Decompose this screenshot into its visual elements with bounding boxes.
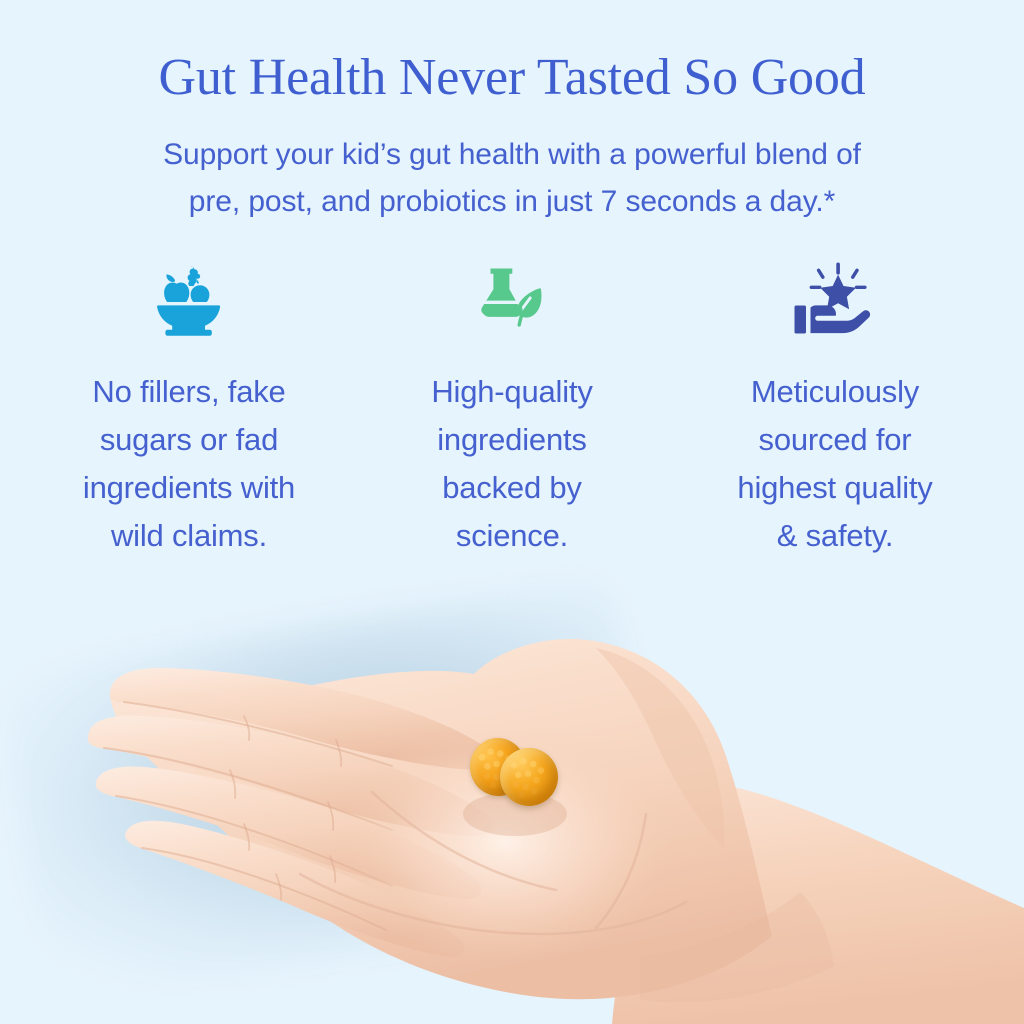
page-title: Gut Health Never Tasted So Good — [0, 48, 1024, 108]
feature-text-no-fillers: No fillers, fake sugars or fad ingredien… — [77, 368, 301, 560]
feature-item-high-quality: High-quality ingredients backed by scien… — [351, 252, 673, 560]
promo-banner: Gut Health Never Tasted So Good Support … — [0, 0, 1024, 1024]
product-photo — [0, 556, 1024, 1024]
feature-line: sugars or fad — [100, 422, 278, 457]
feature-line: highest quality — [737, 470, 932, 505]
subtitle-line-2: pre, post, and probiotics in just 7 seco… — [62, 178, 962, 225]
flask-leaf-icon — [471, 252, 553, 348]
feature-item-meticulously-sourced: Meticulously sourced for highest quality… — [674, 252, 996, 560]
feature-line: wild claims. — [111, 518, 267, 553]
feature-item-no-fillers: No fillers, fake sugars or fad ingredien… — [28, 252, 350, 560]
feature-line: & safety. — [777, 518, 894, 553]
hand-star-icon — [791, 252, 879, 348]
feature-text-meticulously-sourced: Meticulously sourced for highest quality… — [731, 368, 938, 560]
feature-line: science. — [456, 518, 568, 553]
feature-line: ingredients with — [83, 470, 295, 505]
feature-line: sourced for — [759, 422, 912, 457]
feature-list: No fillers, fake sugars or fad ingredien… — [28, 252, 996, 560]
gummy-front — [500, 748, 558, 806]
fruit-bowl-icon — [148, 252, 230, 348]
subtitle-line-1: Support your kid’s gut health with a pow… — [62, 131, 962, 178]
feature-line: ingredients — [437, 422, 586, 457]
page-subtitle: Support your kid’s gut health with a pow… — [62, 131, 962, 225]
feature-line: No fillers, fake — [92, 374, 285, 409]
feature-line: backed by — [442, 470, 582, 505]
feature-line: Meticulously — [751, 374, 919, 409]
feature-line: High-quality — [431, 374, 592, 409]
feature-text-high-quality: High-quality ingredients backed by scien… — [425, 368, 598, 560]
